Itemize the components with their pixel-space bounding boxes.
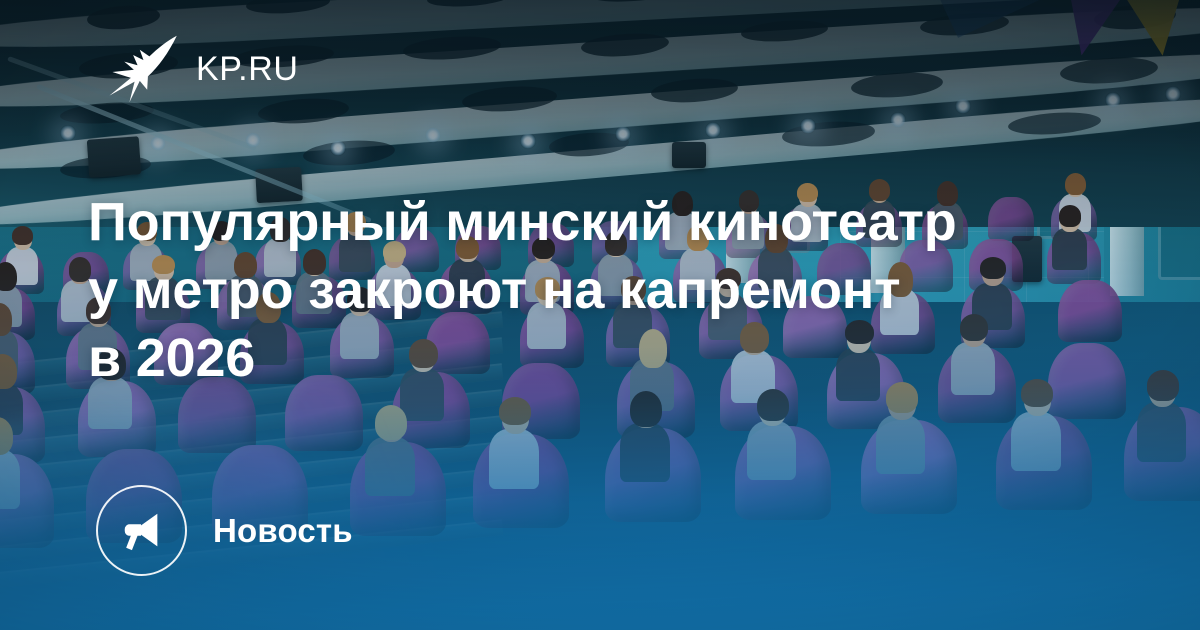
- news-share-card: KP.RU Популярный минский кинотеатр у мет…: [0, 0, 1200, 630]
- card-content: KP.RU Популярный минский кинотеатр у мет…: [0, 0, 1200, 630]
- page-title: Популярный минский кинотеатр у метро зак…: [88, 188, 998, 392]
- status-badge: Новость: [96, 485, 353, 576]
- megaphone-icon: [119, 508, 165, 554]
- brand-name: KP.RU: [196, 52, 299, 86]
- badge-icon-circle: [96, 485, 187, 576]
- badge-label: Новость: [213, 514, 353, 547]
- swallow-bird-icon: [104, 32, 180, 106]
- brand-logo[interactable]: KP.RU: [104, 32, 299, 106]
